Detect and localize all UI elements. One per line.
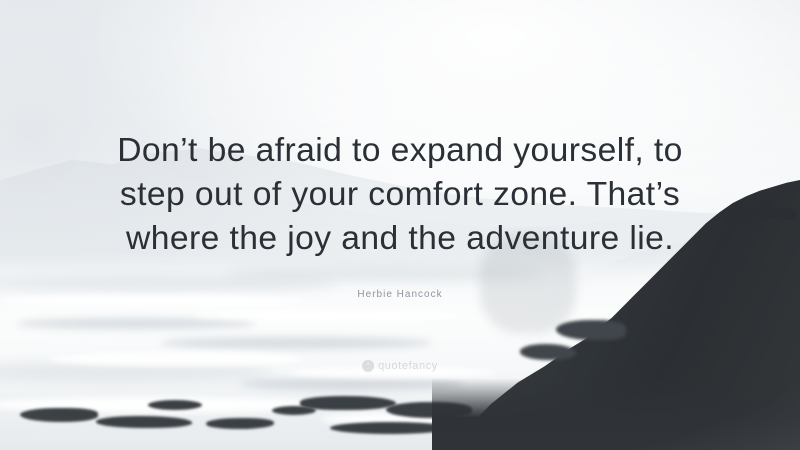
quote-block: Don’t be afraid to expand yourself, to s… bbox=[0, 128, 800, 260]
quote-line-3: where the joy and the adventure lie. bbox=[53, 216, 747, 260]
sea-rock bbox=[330, 422, 450, 434]
watermark-label: quotefancy bbox=[378, 360, 438, 372]
sea-rock bbox=[206, 418, 274, 429]
cliff-spur bbox=[520, 344, 576, 360]
sea-rock bbox=[148, 400, 202, 410]
quote-line-2: step out of your comfort zone. That’s bbox=[53, 172, 747, 216]
sea-rock bbox=[272, 406, 316, 415]
quote-author: Herbie Hancock bbox=[0, 289, 800, 300]
quote-line-1: Don’t be afraid to expand yourself, to bbox=[53, 128, 747, 172]
cliff-base-shadow bbox=[432, 378, 800, 450]
sea-rock bbox=[300, 396, 396, 410]
watermark: “ quotefancy bbox=[362, 360, 438, 372]
sea-mist-band bbox=[0, 252, 800, 450]
quote-wallpaper: Don’t be afraid to expand yourself, to s… bbox=[0, 0, 800, 450]
quote-badge-icon: “ bbox=[362, 360, 374, 372]
cliff-spur bbox=[556, 320, 626, 340]
sea-rock bbox=[386, 402, 472, 418]
sea-rock bbox=[20, 408, 98, 422]
sea-rock bbox=[96, 416, 192, 428]
